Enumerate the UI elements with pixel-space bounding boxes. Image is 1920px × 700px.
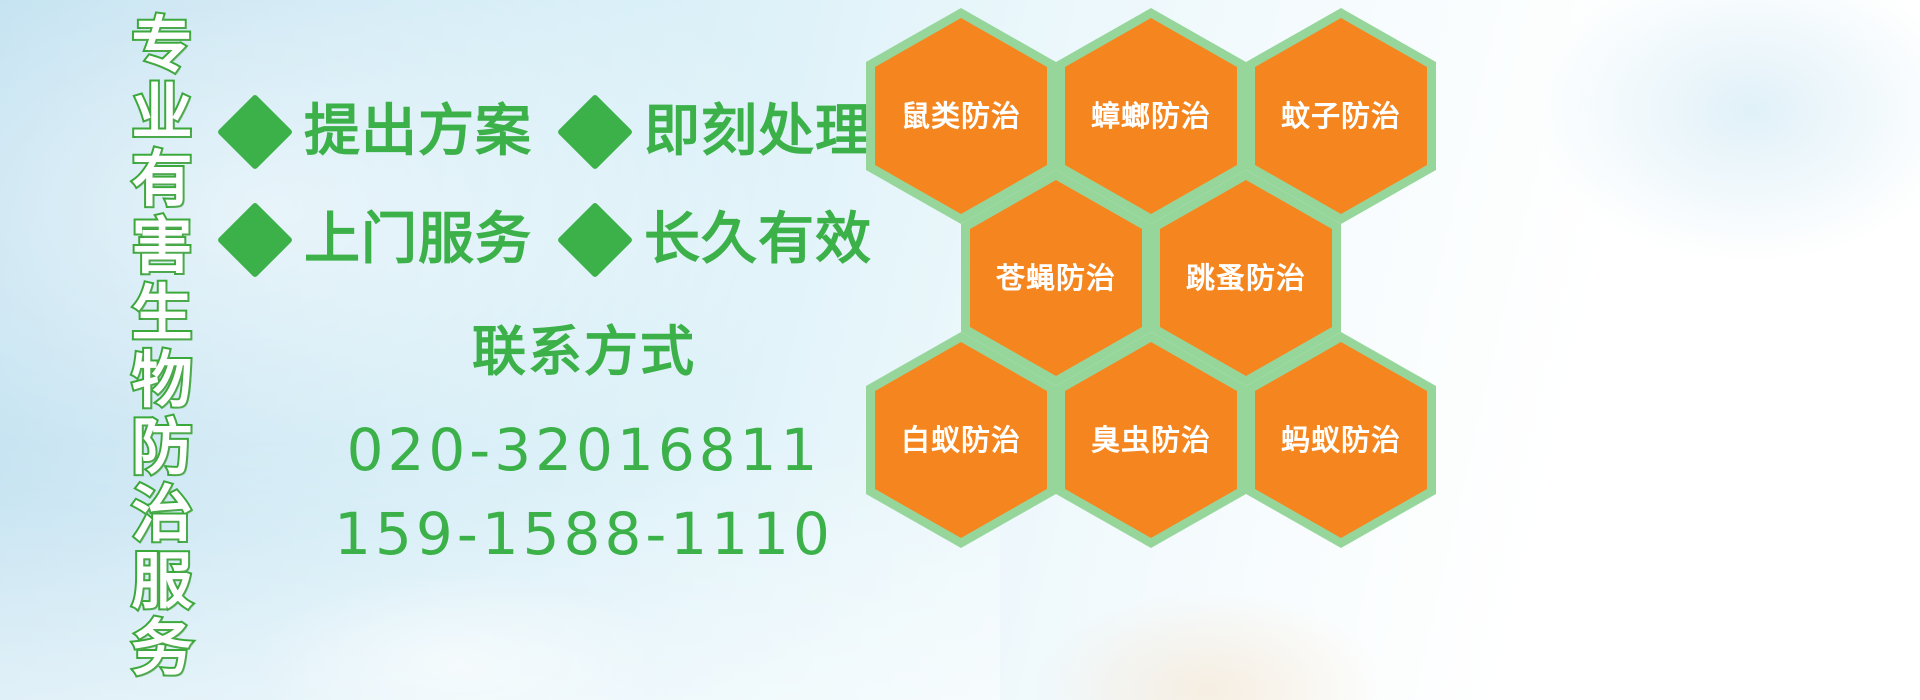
service-hexagon-grid: 鼠类防治 蟑螂防治 蚊子防治 苍蝇防治 跳蚤防治 白蚁防治 xyxy=(860,0,1460,700)
service-hexagon-label: 苍蝇防治 xyxy=(996,264,1116,293)
feature-item-propose-plan: 提出方案 xyxy=(228,104,532,160)
diamond-icon xyxy=(557,202,633,278)
vertical-slogan-char: 物 xyxy=(131,347,192,414)
service-hexagon-label: 蚂蚁防治 xyxy=(1281,426,1401,455)
phone-number-mobile[interactable]: 159-1588-1110 xyxy=(260,492,880,576)
feature-row: 上门服务 长久有效 xyxy=(228,186,868,294)
feature-item-immediate-handling: 即刻处理 xyxy=(568,104,872,160)
feature-label: 即刻处理 xyxy=(644,104,872,160)
phone-number-landline[interactable]: 020-32016811 xyxy=(260,408,880,492)
feature-label: 提出方案 xyxy=(304,104,532,160)
vertical-slogan-char: 有 xyxy=(131,146,192,213)
vertical-slogan-char: 治 xyxy=(131,481,192,548)
background-glow-left xyxy=(250,570,670,700)
vertical-slogan-char: 生 xyxy=(131,280,192,347)
service-hexagon-label: 跳蚤防治 xyxy=(1186,264,1306,293)
vertical-slogan-char: 服 xyxy=(131,548,192,615)
service-hexagon-label: 蚊子防治 xyxy=(1281,102,1401,131)
service-hexagon-label: 臭虫防治 xyxy=(1091,426,1211,455)
vertical-slogan-char: 害 xyxy=(131,213,192,280)
vertical-slogan-char: 专 xyxy=(131,12,192,79)
feature-item-door-to-door-service: 上门服务 xyxy=(228,212,532,268)
service-hexagon-termite[interactable]: 白蚁防治 xyxy=(866,332,1056,548)
service-hexagon-label: 蟑螂防治 xyxy=(1091,102,1211,131)
contact-heading: 联系方式 xyxy=(260,312,880,392)
vertical-slogan-char: 防 xyxy=(131,414,192,481)
diamond-icon xyxy=(217,202,293,278)
feature-list: 提出方案 即刻处理 上门服务 长久有效 xyxy=(228,78,868,294)
service-hexagon-bedbug[interactable]: 臭虫防治 xyxy=(1056,332,1246,548)
feature-label: 长久有效 xyxy=(644,212,872,268)
service-hexagon-label: 鼠类防治 xyxy=(901,102,1021,131)
vertical-slogan: 专 业 有 害 生 物 防 治 服 务 xyxy=(108,12,216,688)
background-glow-right xyxy=(1540,0,1920,260)
service-hexagon-ant[interactable]: 蚂蚁防治 xyxy=(1246,332,1436,548)
feature-item-long-lasting-effect: 长久有效 xyxy=(568,212,872,268)
contact-block: 联系方式 020-32016811 159-1588-1110 xyxy=(260,312,880,576)
vertical-slogan-char: 业 xyxy=(131,79,192,146)
pest-control-banner: 专 业 有 害 生 物 防 治 服 务 提出方案 即刻处理 上门服务 xyxy=(0,0,1920,700)
vertical-slogan-char: 务 xyxy=(131,615,192,682)
diamond-icon xyxy=(557,94,633,170)
feature-label: 上门服务 xyxy=(304,212,532,268)
feature-row: 提出方案 即刻处理 xyxy=(228,78,868,186)
diamond-icon xyxy=(217,94,293,170)
service-hexagon-label: 白蚁防治 xyxy=(901,426,1021,455)
